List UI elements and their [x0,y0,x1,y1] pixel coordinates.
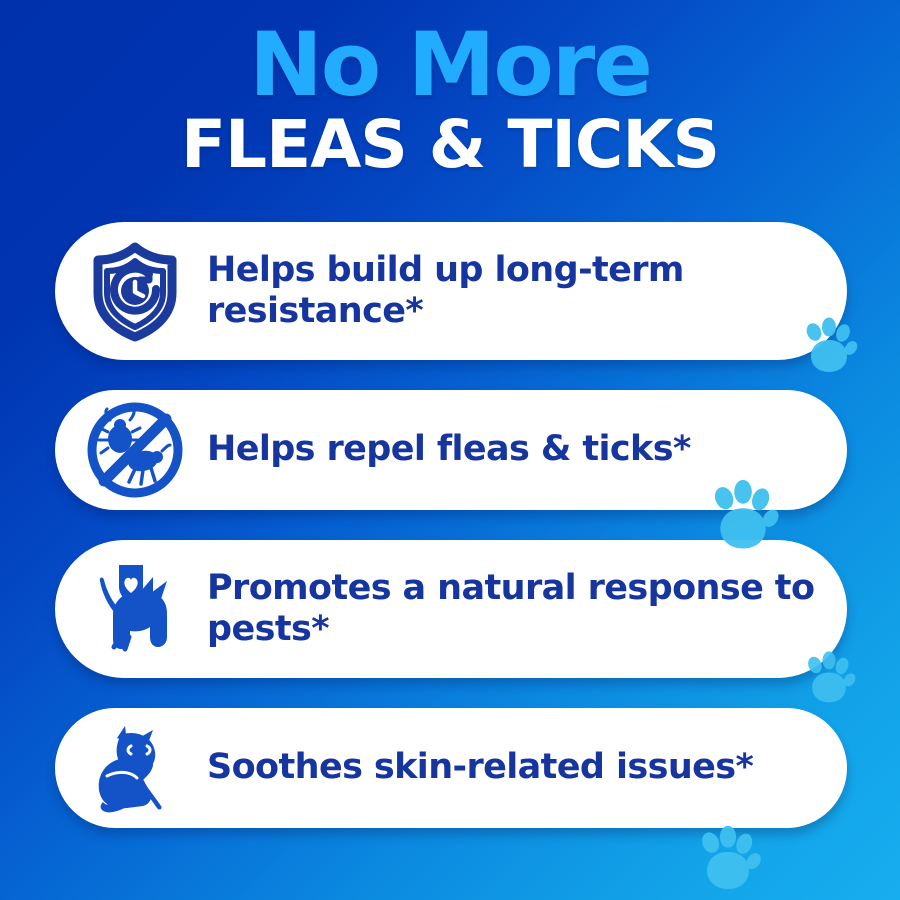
shield-clock-icon [81,237,189,345]
feature-card-list: Helps build up long-term resistance* [55,222,847,858]
feature-card-soothes-skin[interactable]: Soothes skin-related issues* [55,708,847,828]
headline-primary: No More [0,22,900,108]
feature-card-resistance[interactable]: Helps build up long-term resistance* [55,222,847,360]
headline: No More FLEAS & TICKS [0,22,900,178]
promo-poster: No More FLEAS & TICKS Helps build up lon… [0,0,900,900]
feature-card-repel[interactable]: Helps repel fleas & ticks* [55,390,847,510]
headline-secondary: FLEAS & TICKS [0,112,900,178]
cat-scratching-icon [81,714,189,822]
no-fleas-ticks-icon [81,396,189,504]
cat-shield-heart-icon [81,555,189,663]
feature-card-natural-response[interactable]: Promotes a natural response to pests* [55,540,847,678]
feature-card-label: Helps build up long-term resistance* [189,250,829,333]
feature-card-label: Helps repel fleas & ticks* [189,429,829,470]
feature-card-label: Soothes skin-related issues* [189,747,829,788]
feature-card-label: Promotes a natural response to pests* [189,568,829,651]
